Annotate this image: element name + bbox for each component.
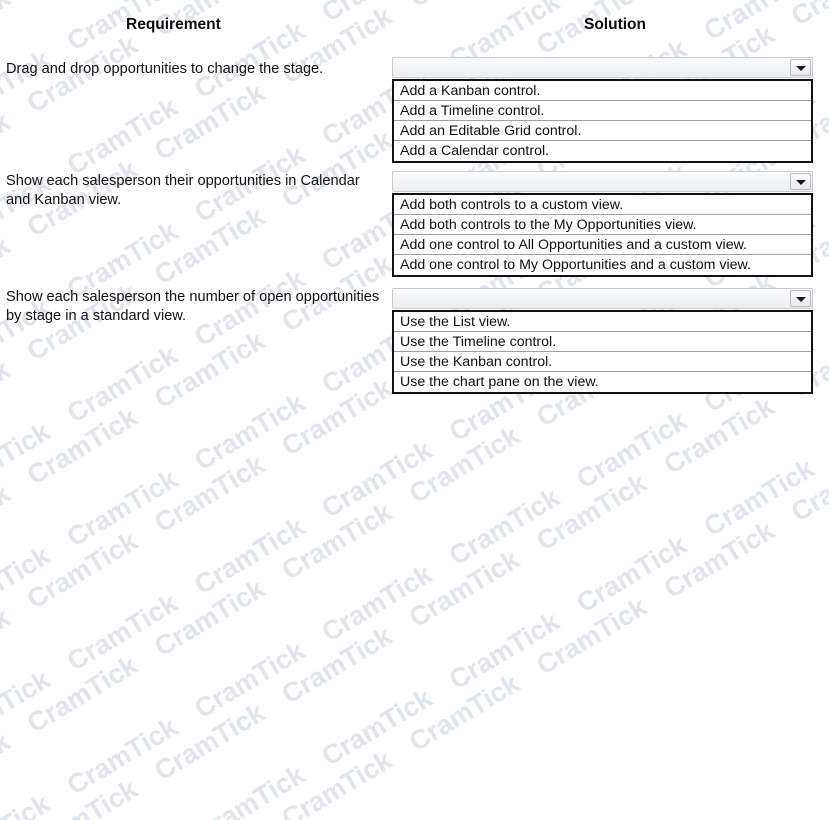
watermark-word: CramTick	[0, 652, 62, 765]
solution-option[interactable]: Add a Calendar control.	[394, 141, 811, 161]
requirement-text: Show each salesperson their opportunitie…	[6, 172, 386, 210]
watermark-word: CramTick	[564, 518, 699, 631]
solution-option-list[interactable]: Use the List view. Use the Timeline cont…	[392, 310, 813, 394]
watermark-word: CramTick	[397, 656, 532, 769]
watermark-word: CramTick	[142, 561, 277, 674]
watermark-word: CramTick	[0, 714, 22, 820]
watermark-word: CramTick	[0, 404, 62, 517]
chevron-down-icon[interactable]	[790, 290, 811, 307]
watermark-word: CramTick	[142, 809, 277, 820]
watermark-word: CramTick	[15, 514, 150, 627]
watermark-word: CramTick	[182, 747, 317, 820]
watermark-word: CramTick	[564, 394, 699, 507]
watermark-word: CramTick	[309, 423, 444, 536]
solution-select-closed[interactable]	[392, 171, 813, 192]
solution-option-list[interactable]: Add a Kanban control. Add a Timeline con…	[392, 79, 813, 163]
watermark-word: CramTick	[0, 590, 22, 703]
watermark-word: CramTick	[15, 638, 150, 751]
watermark-word: CramTick	[142, 437, 277, 550]
solution-dropdown-group: Add both controls to a custom view. Add …	[392, 171, 813, 277]
solution-select-closed[interactable]	[392, 57, 813, 78]
watermark-word: CramTick	[0, 528, 62, 641]
solution-option[interactable]: Add a Kanban control.	[394, 81, 811, 101]
solution-option[interactable]: Add both controls to the My Opportunitie…	[394, 215, 811, 235]
watermark-word: CramTick	[15, 762, 150, 820]
watermark-word: CramTick	[397, 408, 532, 521]
watermark-word: CramTick	[309, 547, 444, 660]
watermark-word: CramTick	[0, 466, 22, 579]
watermark-word: CramTick	[269, 609, 404, 722]
solution-option[interactable]: Add one control to All Opportunities and…	[394, 235, 811, 255]
requirement-text: Show each salesperson the number of open…	[6, 288, 386, 326]
chevron-down-icon[interactable]	[790, 59, 811, 76]
requirement-text: Drag and drop opportunities to change th…	[6, 60, 386, 79]
watermark-word: CramTick	[651, 503, 786, 616]
solution-option[interactable]: Add an Editable Grid control.	[394, 121, 811, 141]
watermark-word: CramTick	[269, 733, 404, 820]
watermark-word: CramTick	[437, 594, 572, 707]
solution-option[interactable]: Add one control to My Opportunities and …	[394, 255, 811, 275]
watermark-word: CramTick	[182, 499, 317, 612]
solution-option[interactable]: Use the Kanban control.	[394, 352, 811, 372]
solution-option[interactable]: Add both controls to a custom view.	[394, 195, 811, 215]
watermark-word: CramTick	[691, 441, 826, 554]
solution-option[interactable]: Use the List view.	[394, 312, 811, 332]
watermark-word: CramTick	[524, 580, 659, 693]
watermark-word: CramTick	[55, 576, 190, 689]
watermark-word: CramTick	[779, 427, 829, 540]
watermark-word: CramTick	[524, 456, 659, 569]
watermark-word: CramTick	[0, 776, 62, 820]
solution-dropdown-group: Add a Kanban control. Add a Timeline con…	[392, 57, 813, 163]
watermark-word: CramTick	[269, 485, 404, 598]
solution-option[interactable]: Use the chart pane on the view.	[394, 372, 811, 392]
watermark-word: CramTick	[55, 700, 190, 813]
watermark-word: CramTick	[437, 470, 572, 583]
solution-option-list[interactable]: Add both controls to a custom view. Add …	[392, 193, 813, 277]
solution-option[interactable]: Use the Timeline control.	[394, 332, 811, 352]
watermark-word: CramTick	[182, 623, 317, 736]
solution-option[interactable]: Add a Timeline control.	[394, 101, 811, 121]
solution-select-closed[interactable]	[392, 288, 813, 309]
watermark-word: CramTick	[142, 685, 277, 798]
chevron-down-icon[interactable]	[790, 173, 811, 190]
solution-dropdown-group: Use the List view. Use the Timeline cont…	[392, 288, 813, 394]
column-header-requirement: Requirement	[126, 16, 221, 34]
watermark-word: CramTick	[309, 671, 444, 784]
watermark-word: CramTick	[55, 452, 190, 565]
watermark-word: CramTick	[397, 532, 532, 645]
column-header-solution: Solution	[584, 16, 646, 34]
